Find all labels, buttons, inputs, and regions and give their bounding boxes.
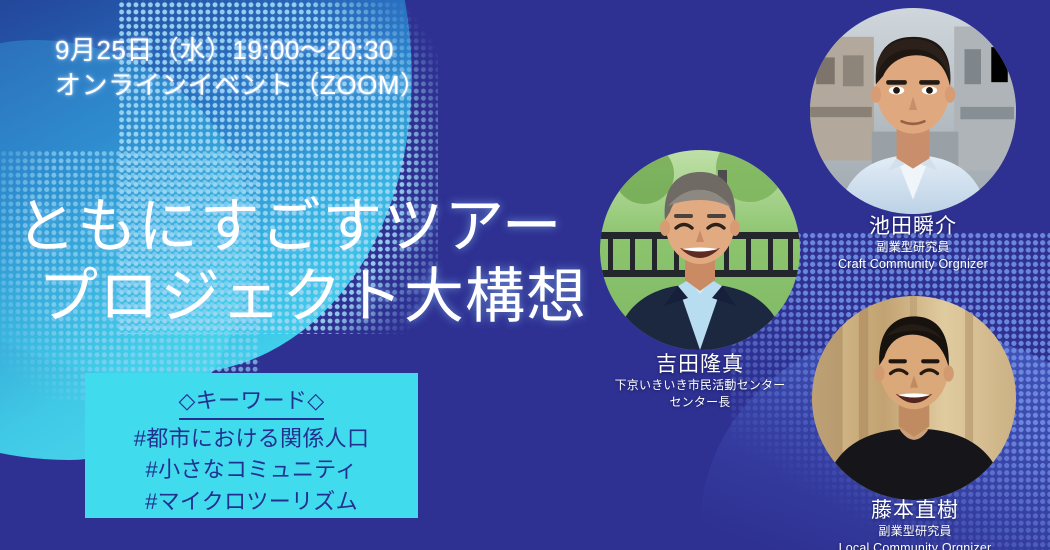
- event-date-line: 9月25日（水）19:00〜20:30: [55, 33, 427, 68]
- speaker-role-ja: 副業型研究員: [808, 524, 1022, 540]
- keyword-item: #マイクロツーリズム: [85, 486, 418, 518]
- speaker-role-en: Local Community Orgnizer: [808, 540, 1022, 550]
- speaker-role-ja-2: センター長: [592, 395, 808, 411]
- speaker-role-ja: 下京いきいき市民活動センター: [592, 378, 808, 394]
- speaker-role-ja: 副業型研究員: [806, 240, 1020, 256]
- speaker-name: 池田瞬介: [806, 214, 1020, 239]
- speaker-photo-yoshida: [600, 150, 800, 350]
- title-line-1: ともにすごすツアー: [16, 192, 587, 262]
- event-datetime-block: 9月25日（水）19:00〜20:30 オンラインイベント（ZOOM）: [55, 33, 427, 102]
- keyword-heading-wrap: ◇キーワード◇: [85, 385, 418, 423]
- title-line-2: プロジェクト大構想: [16, 262, 587, 332]
- event-format-line: オンラインイベント（ZOOM）: [55, 68, 427, 103]
- keyword-item: #都市における関係人口: [85, 423, 418, 455]
- keyword-panel: ◇キーワード◇ #都市における関係人口 #小さなコミュニティ #マイクロツーリズ…: [85, 373, 418, 518]
- page-title: ともにすごすツアー プロジェクト大構想: [16, 192, 587, 331]
- speaker-caption-yoshida: 吉田隆真 下京いきいき市民活動センター センター長: [592, 352, 808, 410]
- event-flyer: 9月25日（水）19:00〜20:30 オンラインイベント（ZOOM） ともにす…: [0, 0, 1050, 550]
- speaker-caption-fujimoto: 藤本直樹 副業型研究員 Local Community Orgnizer: [808, 498, 1022, 550]
- keyword-item: #小さなコミュニティ: [85, 454, 418, 486]
- keyword-heading: ◇キーワード◇: [179, 385, 325, 420]
- speaker-caption-ikeda: 池田瞬介 副業型研究員 Craft Community Orgnizer: [806, 214, 1020, 272]
- speaker-role-en: Craft Community Orgnizer: [806, 256, 1020, 272]
- portrait-illustration-yoshida: [600, 150, 800, 350]
- portrait-illustration-ikeda: [810, 8, 1016, 214]
- speaker-name: 吉田隆真: [592, 352, 808, 377]
- speaker-photo-ikeda: [810, 8, 1016, 214]
- speaker-name: 藤本直樹: [808, 498, 1022, 523]
- speaker-photo-fujimoto: [812, 296, 1016, 500]
- portrait-illustration-fujimoto: [812, 296, 1016, 500]
